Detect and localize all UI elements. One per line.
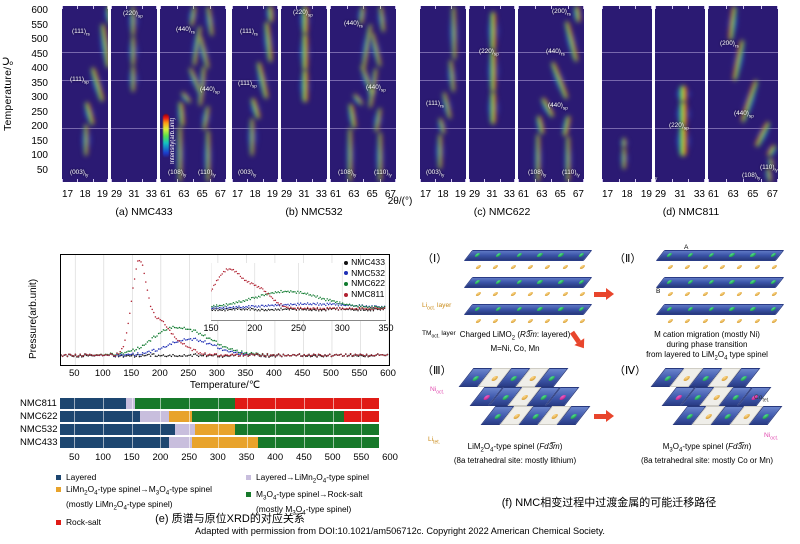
bar-x-tick-50: 50 [62,452,86,463]
panel-caption-0: (a) NMC433 [62,206,226,218]
li-atom [684,265,691,269]
site-atom-tm [693,395,702,400]
streak-3-1-0-seg0 [674,126,693,156]
peak-label-111-rs: (111)rs [72,28,90,36]
streak-0-0-0-seg1 [80,100,99,125]
panel-caption-2: (c) NMC622 [420,206,584,218]
streak-2-2-1-seg1 [559,115,574,137]
tet-atom [520,395,529,400]
streak-3-2-0-seg0 [724,6,741,41]
site-atom-tm [539,395,548,400]
schematic-roman-0: （Ⅰ） [422,250,447,266]
li-atom [736,319,743,323]
site-atom-tm [663,376,672,381]
peak-label-003-ly: (003)ly [426,169,444,177]
li-row-1 [662,292,778,297]
legend-dot-NMC622 [344,282,348,286]
bar-segment-NMC811-3 [235,398,378,409]
y-tick-300: 300 [22,93,48,103]
tet-atom [720,376,729,381]
xrd-subplot-2-1: (220)sp [469,6,515,182]
legend-dot-NMC433 [344,261,348,265]
streak-3-0-0-seg0 [619,148,630,169]
bar-row-NMC811 [60,398,390,409]
streak-1-0-0-seg4 [264,6,278,22]
bar-x-tick-600: 600 [378,452,402,463]
tm-atom [495,307,503,311]
streak-3-2-0-seg4 [762,143,778,160]
tm-atom [687,280,695,284]
streak-0-0-0-seg4 [102,6,108,25]
streak-0-1-0-seg0 [127,66,140,92]
li-row-1 [470,292,586,297]
tm-slab-1 [464,277,593,288]
legend-label-NMC532: NMC532 [351,268,385,278]
bar-x-tick-500: 500 [321,452,345,463]
streak-3-2-0-seg2 [736,78,762,124]
y-tick-50: 50 [22,166,48,176]
li-atom [561,265,568,269]
x-tick-450: 450 [290,368,314,379]
pressure-y-axis-title: Pressure(arb.unit) [28,264,42,374]
streak-1-0-0-seg0 [246,118,259,156]
li-atom [684,292,691,296]
streak-2-1-0-seg2 [486,12,501,50]
tm-atom [495,253,503,257]
site-atom-tm [701,376,710,381]
schematic-label-li-0: Lioct. layer [422,302,451,311]
xrd-panel-0: (111)rs(111)sp(003)ly(220)sp(440)rs(440)… [62,6,226,182]
streak-2-0-0-seg2 [438,91,456,120]
streak-0-1-0-seg2 [127,6,140,36]
schematic-label-b-1: B [656,288,660,295]
site-atom-tm [509,376,518,381]
streak-0-0-0-seg3 [96,23,108,69]
inset-x-tick-150: 150 [201,323,221,333]
legend-dot-NMC532 [344,271,348,275]
tm-atom [536,307,544,311]
bar-x-tick-550: 550 [349,452,373,463]
site-atom-tm [493,414,502,419]
peak-label-111-rs: (111)rs [240,28,258,36]
streak-0-1-0-seg1 [127,36,140,66]
xrd-subplot-2-2: (200)rs(440)rs(440)sp(108)ly(110)ly [518,6,584,182]
bar-x-tick-100: 100 [91,452,115,463]
bar-x-tick-300: 300 [206,452,230,463]
streak-2-0-0-seg1 [434,117,450,136]
legend-item-NMC622: NMC622 [344,278,385,289]
tm-atom [557,307,565,311]
streak-2-0-0-seg4 [447,6,460,60]
streak-1-2-1-seg4 [355,6,369,25]
tm-atom [728,253,736,257]
site-atom-tm [739,376,748,381]
inset-x-tick-250: 250 [289,323,309,333]
legend-item-NMC433: NMC433 [344,257,385,268]
tm-atom [749,280,757,284]
li-atom [475,319,482,323]
legend-label-NMC622: NMC622 [351,278,385,288]
li-atom [475,292,482,296]
tm-atom [728,280,736,284]
x-tick-50: 50 [62,368,86,379]
phase-legend-swatch-0 [246,475,251,480]
li-atom [509,292,516,296]
tm-atom [687,253,695,257]
li-atom [771,265,778,269]
arrow-I-to-II [594,288,614,300]
schematic-roman-3: （Ⅳ） [614,362,646,378]
schematic-label-ni-3: Nioct. [764,432,778,441]
xrd-subplot-1-1: (220)sp [281,6,327,182]
tm-slab-0 [656,250,785,261]
li-atom [736,265,743,269]
peak-label-200-rs: (200)rs [552,8,571,16]
streak-2-1-0-seg0 [486,92,501,124]
legend-dot-NMC811 [344,293,348,297]
intensity-colorbar-label: Intensity(arb.unit) [170,108,176,164]
schematic-label-a-1: A [684,244,688,251]
inset-x-tick-300: 300 [332,323,352,333]
xrd-heatmap-row: Temperature/℃ 60055050045040035030025020… [0,0,800,228]
streak-3-2-0-seg1 [728,39,749,82]
tm-atom [707,280,715,284]
streak-1-1-0-seg2 [298,6,312,34]
bar-x-tick-150: 150 [120,452,144,463]
schematic-panel-1: （Ⅱ）ABM cation migration (mostly Ni)durin… [614,244,800,354]
li-atom [736,292,743,296]
tm-atom [770,307,778,311]
arrow-III-to-IV [594,410,614,422]
li-atom [719,265,726,269]
site-atom-tm [547,376,556,381]
li-atom [579,292,586,296]
streak-1-2-0-seg0 [345,128,356,182]
li-atom [544,319,551,323]
li-atom [667,292,674,296]
tm-atom [578,280,586,284]
bar-segment-NMC811-2 [135,398,235,409]
li-atom [771,319,778,323]
li-atom [753,292,760,296]
site-atom-tm [569,414,578,419]
tm-atom [578,307,586,311]
schematic-roman-2: （Ⅲ） [422,362,452,378]
tet-atom [682,376,691,381]
li-atom [527,265,534,269]
xrd-subplot-1-2: (440)rs(440)sp(108)ly(110)ly [330,6,396,182]
bar-x-tick-400: 400 [263,452,287,463]
schematic-label-ni-2: Nioct. [430,386,444,395]
tm-atom [770,280,778,284]
streak-0-2-1-seg4 [185,6,200,27]
bar-x-tick-200: 200 [148,452,172,463]
x-tick-100: 100 [91,368,115,379]
y-tick-200: 200 [22,122,48,132]
li-atom [701,319,708,323]
schematic-caption-2: LiM2O4-type spinel (Fd3̅m)(8a tetrahedra… [422,442,608,466]
streak-2-2-0-seg0 [533,134,544,182]
streak-1-1-0-seg1 [298,34,312,70]
tm-slab-2 [464,304,593,315]
x-tick-550: 550 [347,368,371,379]
schematic-panel-3: （Ⅳ）Cotet.Nioct.M3O4-type spinel (Fd3̅m)(… [614,356,800,466]
phase-legend-item-0: Layered [56,472,241,482]
bar-segment-NMC622-1 [140,411,169,422]
tet-atom [490,376,499,381]
pressure-plot-area: NMC433NMC532NMC622NMC811 150200250300350 [60,254,390,366]
streak-0-2-1-seg0 [202,130,214,182]
streak-1-2-2-seg3 [374,6,389,33]
li-atom [753,265,760,269]
li-atom [475,265,482,269]
li-atom [561,319,568,323]
bar-segment-NMC811-0 [60,398,126,409]
peak-label-108-ly: (108)ly [742,172,760,180]
li-atom [753,319,760,323]
li-atom [684,319,691,323]
inset-x-tick-200: 200 [245,323,265,333]
tm-atom [578,253,586,257]
li-atom [701,265,708,269]
li-atom [527,319,534,323]
x-tick-500: 500 [319,368,343,379]
tet-atom [742,414,751,419]
xrd-subplot-0-1: (220)sp [111,6,157,182]
y-tick-150: 150 [22,137,48,147]
li-atom [719,292,726,296]
xrd-subplot-0-2: (440)rs(440)sp(108)ly(110)lyIntensity(ar… [160,6,226,182]
site-atom-ni [558,395,567,400]
tet-atom [550,414,559,419]
streak-2-0-0-seg3 [444,59,459,92]
pressure-legend: NMC433NMC532NMC622NMC811 [344,257,385,299]
bar-segment-NMC622-3 [192,411,344,422]
streak-0-2-0-seg0 [175,126,186,182]
phase-transition-schematic: （Ⅰ）Lioct. layerTMoct. layerCharged LiMO2… [418,244,800,544]
tm-atom [749,307,757,311]
streak-3-2-1-seg1 [765,157,777,169]
tet-atom [512,414,521,419]
tm-atom [687,307,695,311]
bar-segment-NMC622-0 [60,411,140,422]
li-atom [492,292,499,296]
bar-row-NMC622 [60,411,390,422]
site-atom-ni [674,395,683,400]
pressure-chart-panel: Pressure(arb.unit) NMC433NMC532NMC622NMC… [22,244,412,526]
pressure-x-axis-title: Temperature/℃ [60,380,390,391]
tet-atom [704,414,713,419]
streak-2-1-0-seg1 [486,50,501,92]
panel-caption-3: (d) NMC811 [602,206,780,218]
phase-legend-swatch-1 [246,492,251,497]
schematic-caption-3: M3O4-type spinel (Fd3̅m)(8a tetrahedral … [614,442,800,466]
bar-row-NMC532 [60,424,390,435]
phase-legend-swatch-0 [56,475,61,480]
tm-atom [515,307,523,311]
xrd-panel-1: (111)rs(111)sp(003)ly(220)sp(440)rs(440)… [232,6,396,182]
panel-caption-1: (b) NMC532 [232,206,396,218]
li-row-2 [662,319,778,324]
bar-segment-NMC532-3 [235,424,378,435]
li-atom [492,319,499,323]
tm-atom [515,280,523,284]
li-atom [667,265,674,269]
tm-atom [770,253,778,257]
xrd-x-axis-title: 2θ/(°) [0,196,800,207]
tm-atom [474,280,482,284]
xrd-subplot-1-0: (111)rs(111)sp(003)ly [232,6,278,182]
site-atom-tm [723,414,732,419]
tm-atom [515,253,523,257]
schematic-label-co-3: Cotet. [754,394,769,403]
attribution-text: Adapted with permission from DOI:10.1021… [0,526,800,536]
y-tick-350: 350 [22,79,48,89]
streak-1-2-1-seg0 [374,132,386,182]
peak-label-003-ly: (003)ly [70,169,88,177]
li-atom [527,292,534,296]
streak-2-2-1-seg0 [563,136,574,182]
phase-legend-swatch-1 [56,487,61,492]
li-atom [667,319,674,323]
streak-2-2-2-seg3 [570,6,584,23]
phase-legend-label-0: Layered [66,472,96,482]
y-tick-450: 450 [22,50,48,60]
li-row-0 [662,265,778,270]
li-atom [719,319,726,323]
y-tick-400: 400 [22,64,48,74]
tm-atom [536,253,544,257]
tm-slab-1 [656,277,785,288]
bar-row-NMC433 [60,437,390,448]
xrd-subplot-3-0 [602,6,652,182]
streak-2-2-2-seg2 [560,20,583,63]
phase-bar-chart: NMC811NMC622NMC532NMC433 [60,398,390,450]
bar-segment-NMC811-1 [126,398,135,409]
peak-label-111-sp: (111)sp [238,80,257,88]
li-atom [509,265,516,269]
site-atom-tm [471,376,480,381]
tm-atom [707,307,715,311]
li-atom [771,292,778,296]
tm-slab-0 [464,250,593,261]
intensity-colorbar [163,114,169,158]
y-tick-100: 100 [22,151,48,161]
streak-3-0-0-seg1 [619,138,630,148]
xrd-y-axis-title: Temperature/℃ [2,18,18,168]
tm-slab-2 [656,304,785,315]
streak-0-0-0-seg2 [86,66,108,104]
tm-atom [495,280,503,284]
li-atom [561,292,568,296]
peak-label-003-ly: (003)ly [238,169,256,177]
streak-3-1-0-seg2 [674,86,693,102]
y-tick-500: 500 [22,35,48,45]
y-tick-600: 600 [22,6,48,16]
tet-atom [712,395,721,400]
y-tick-550: 550 [22,21,48,31]
inset-x-tick-350: 350 [376,323,396,333]
tm-atom [557,280,565,284]
streak-1-0-0-seg3 [260,21,277,62]
streak-1-0-0-seg1 [246,96,264,120]
li-row-2 [470,319,586,324]
xrd-subplot-3-2: (200)rs(440)sp(108)ly(110)ly [708,6,778,182]
tm-atom [666,280,674,284]
streak-1-0-0-seg2 [252,61,273,100]
site-atom-tm [731,395,740,400]
streak-1-2-1-seg1 [370,107,386,133]
legend-item-NMC532: NMC532 [344,268,385,279]
bar-segment-NMC433-0 [60,437,169,448]
site-atom-tm [685,414,694,419]
site-atom-tm [501,395,510,400]
bar-label-NMC622: NMC622 [20,411,58,422]
li-atom [544,265,551,269]
li-atom [579,265,586,269]
tm-atom [666,307,674,311]
x-tick-600: 600 [376,368,400,379]
tm-atom [536,280,544,284]
phase-legend-item-0: Layered→LiMn2O4-type spinel [246,472,436,487]
tm-atom [707,253,715,257]
xrd-y-ticks: 60055050045040035030025020015010050 [18,0,48,185]
li-atom [701,292,708,296]
tm-atom [749,253,757,257]
schematic-panel-2: （Ⅲ）Nioct.Litet.LiM2O4-type spinel (Fd3̅m… [422,356,608,466]
streak-1-1-0-seg0 [298,70,312,102]
bar-segment-NMC532-0 [60,424,175,435]
x-tick-300: 300 [205,368,229,379]
bar-x-tick-450: 450 [292,452,316,463]
legend-label-NMC811: NMC811 [351,289,384,299]
x-tick-200: 200 [148,368,172,379]
xrd-subplot-0-0: (111)rs(111)sp(003)ly [62,6,108,182]
site-atom-tm [761,414,770,419]
y-tick-250: 250 [22,108,48,118]
phase-legend-label-1: LiMn2O4-type spinel→M3O4-type spinel(mos… [66,484,212,509]
streak-3-1-0-seg1 [674,102,693,126]
tet-atom [528,376,537,381]
bar-label-NMC433: NMC433 [20,437,58,448]
bar-x-tick-250: 250 [177,452,201,463]
tm-atom [474,253,482,257]
bar-x-tick-350: 350 [235,452,259,463]
streak-2-0-0-seg0 [434,134,446,169]
tm-atom [666,253,674,257]
streak-0-2-2-seg3 [202,6,218,37]
tm-atom [474,307,482,311]
x-tick-350: 350 [233,368,257,379]
bar-segment-NMC532-2 [195,424,235,435]
caption-e: (e) 质谱与原位XRD的对应关系 [60,510,400,526]
bar-label-NMC811: NMC811 [20,398,58,409]
phase-legend-label-0: Layered→LiMn2O4-type spinel [256,472,369,482]
streak-3-2-1-seg0 [763,167,775,182]
bar-segment-NMC532-1 [175,424,195,435]
caption-f: (f) NMC相变过程中过渡金属的可能迁移路径 [418,494,800,510]
xrd-subplot-3-1: (111)rs(220)sp(003)ly [655,6,705,182]
li-atom [544,292,551,296]
li-atom [509,319,516,323]
x-tick-400: 400 [262,368,286,379]
site-atom-tm [531,414,540,419]
li-atom [579,319,586,323]
legend-label-NMC433: NMC433 [351,257,385,267]
li-row-0 [470,265,586,270]
legend-item-NMC811: NMC811 [344,289,385,300]
bar-segment-NMC433-2 [192,437,258,448]
